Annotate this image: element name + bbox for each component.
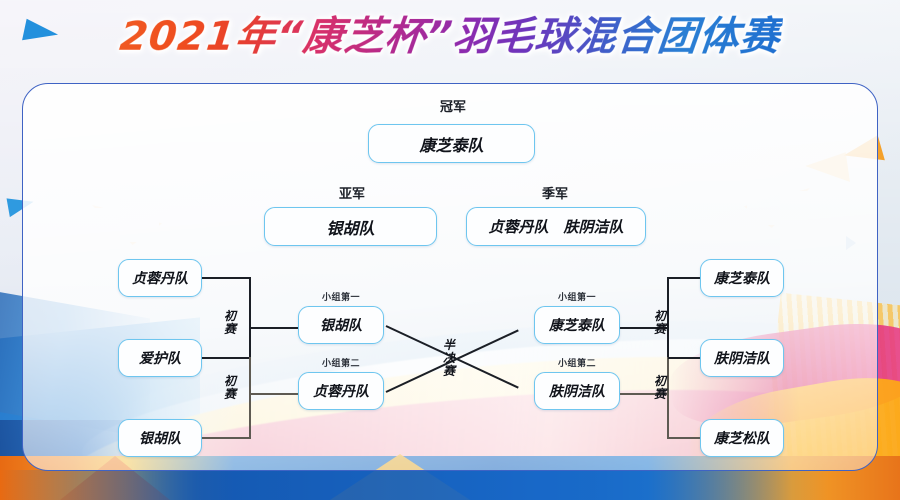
left-advance-h1 — [250, 327, 298, 329]
runner-up-label: 亚军 — [302, 183, 402, 202]
right-team-2-box[interactable]: 肤阴洁队 — [700, 339, 784, 377]
third-place-label: 季军 — [505, 183, 605, 202]
left-advance-1-box[interactable]: 银胡队 — [298, 306, 384, 344]
bottom-blue-overlay — [0, 470, 900, 500]
runner-up-box[interactable]: 银胡队 — [264, 207, 437, 246]
page-title: 2021年“康芝杯”羽毛球混合团体赛 — [117, 8, 784, 66]
left-advance-2-box[interactable]: 贞蓉丹队 — [298, 372, 384, 410]
left-round-label-1: 初赛 — [222, 310, 238, 336]
left-team-1-box[interactable]: 贞蓉丹队 — [118, 259, 202, 297]
third-place-box[interactable]: 贞蓉丹队 肤阴洁队 — [466, 207, 646, 246]
right-round-label-1: 初赛 — [652, 310, 668, 336]
right-advance-2-box[interactable]: 肤阴洁队 — [534, 372, 620, 410]
left-connector-h1 — [202, 277, 250, 279]
left-group-second-label: 小组第二 — [300, 356, 382, 369]
right-round-label-2: 初赛 — [652, 375, 668, 401]
champion-label: 冠军 — [403, 96, 503, 115]
right-group-second-label: 小组第二 — [536, 356, 618, 369]
champion-box[interactable]: 康芝泰队 — [368, 124, 535, 163]
right-team-3-box[interactable]: 康芝松队 — [700, 419, 784, 457]
left-team-3-box[interactable]: 银胡队 — [118, 419, 202, 457]
right-group-first-label: 小组第一 — [536, 290, 618, 303]
left-advance-h2 — [250, 393, 298, 395]
left-team-2-box[interactable]: 爱护队 — [118, 339, 202, 377]
left-bracket-v-upper — [249, 277, 251, 359]
left-connector-h2 — [202, 357, 250, 359]
left-group-first-label: 小组第一 — [300, 290, 382, 303]
left-round-label-2: 初赛 — [222, 375, 238, 401]
poster-canvas: 2021年“康芝杯”羽毛球混合团体赛 冠军 康芝泰队 亚军 银胡队 季军 贞蓉丹… — [0, 0, 900, 500]
right-advance-1-box[interactable]: 康芝泰队 — [534, 306, 620, 344]
right-team-1-box[interactable]: 康芝泰队 — [700, 259, 784, 297]
title-container: 2021年“康芝杯”羽毛球混合团体赛 — [0, 8, 900, 70]
left-bracket-v-lower — [249, 357, 251, 439]
left-connector-h3 — [202, 437, 250, 439]
semifinal-label: 半决赛 — [441, 339, 457, 378]
